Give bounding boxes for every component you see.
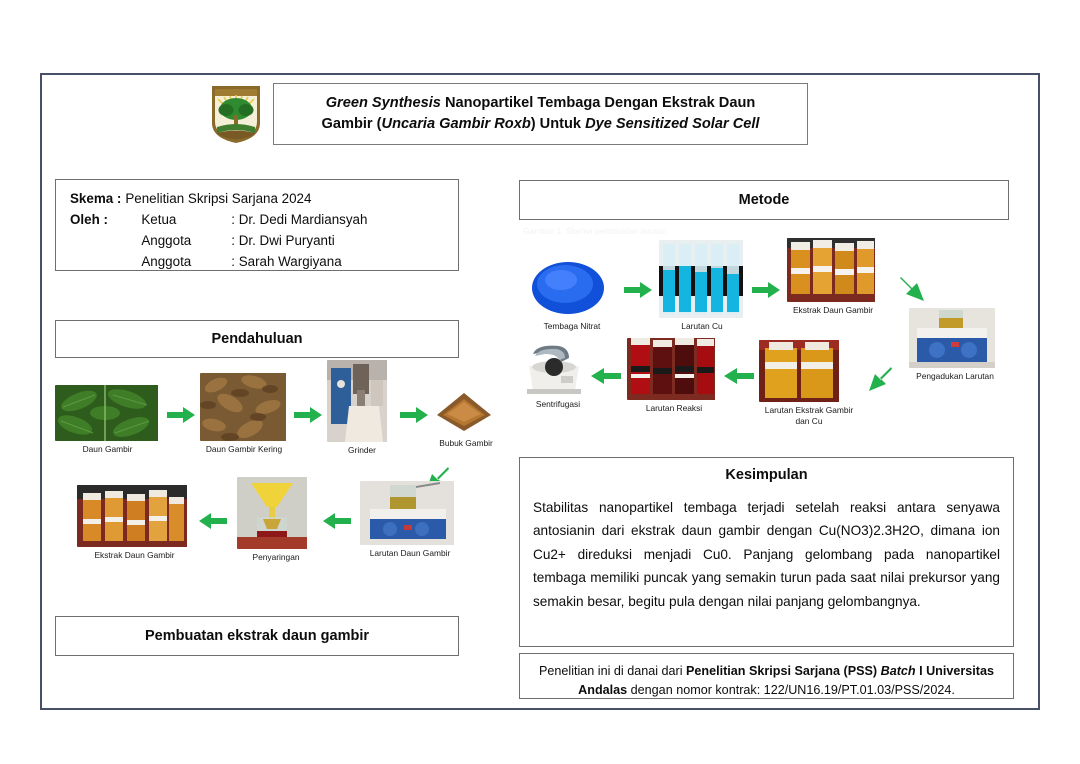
- metode-flow-diagram: Tembaga Nitrat: [519, 240, 1019, 455]
- flow-caption: Ekstrak Daun Gambir: [77, 550, 192, 561]
- flow-caption: Pengadukan Larutan: [909, 371, 1001, 382]
- table-row: Oleh : Ketua : Dr. Dedi Mardiansyah: [70, 210, 367, 231]
- page-title: Green Synthesis Nanopartikel Tembaga Den…: [322, 93, 760, 135]
- filtration-funnel-photo: [237, 477, 315, 549]
- arrow-left-icon: [591, 368, 621, 384]
- table-row: Anggota : Dr. Dwi Puryanti: [70, 231, 367, 252]
- member-role-2: Anggota: [125, 252, 231, 273]
- skema-box: Skema : Penelitian Skripsi Sarjana 2024 …: [55, 179, 459, 271]
- skema-value: Penelitian Skripsi Sarjana 2024: [125, 189, 367, 210]
- flow-caption: Larutan Daun Gambir: [360, 548, 460, 559]
- skema-label: Skema :: [70, 189, 125, 210]
- flow-caption: Sentrifugasi: [525, 399, 591, 410]
- two-amber-jars-photo: [759, 340, 859, 402]
- poster-title-box: Green Synthesis Nanopartikel Tembaga Den…: [273, 83, 808, 145]
- green-gambir-leaves-photo: [55, 385, 160, 441]
- flow-node-bubuk-gambir: Bubuk Gambir: [431, 385, 501, 449]
- beaker-on-hotplate-photo: [360, 481, 460, 545]
- flow-node-ekstrak-daun-gambir: Ekstrak Daun Gambir: [77, 485, 192, 561]
- flow-node-larutan-reaksi: Larutan Reaksi: [627, 338, 721, 414]
- table-row: Anggota : Sarah Wargiyana: [70, 252, 367, 273]
- member-role-0: Ketua: [125, 210, 231, 231]
- oleh-label: Oleh :: [70, 210, 125, 231]
- funding-post: dengan nomor kontrak: 122/UN16.19/PT.01.…: [627, 683, 955, 697]
- arrow-right-icon: [400, 407, 428, 423]
- arrow-left-icon: [199, 513, 227, 529]
- kesimpulan-text: Stabilitas nanopartikel tembaga terjadi …: [533, 496, 1000, 613]
- arrow-right-icon: [624, 282, 652, 298]
- member-name-0: : Dr. Dedi Mardiansyah: [231, 210, 367, 231]
- flow-node-larutan-ekstrak-gambir-cu: Larutan Ekstrak Gambir dan Cu: [759, 340, 859, 427]
- kesimpulan-box: Kesimpulan Stabilitas nanopartikel temba…: [519, 457, 1014, 647]
- funding-italic-bold: Batch: [881, 664, 916, 678]
- arrow-right-icon: [294, 407, 322, 423]
- arrow-down-left-icon: [864, 365, 894, 395]
- title-line2-b: ) Untuk: [531, 116, 585, 132]
- dark-red-reaction-bottles-photo: [627, 338, 721, 400]
- title-row: Green Synthesis Nanopartikel Tembaga Den…: [208, 83, 808, 149]
- flow-caption: Bubuk Gambir: [431, 438, 501, 449]
- dried-brown-leaves-photo: [200, 373, 288, 441]
- flow-caption: Daun Gambir Kering: [200, 444, 288, 455]
- section-header-pendahuluan: Pendahuluan: [55, 320, 459, 358]
- title-line1-rest: Nanopartikel Tembaga Dengan Ekstrak Daun: [441, 95, 755, 111]
- grinder-machine-photo: [327, 360, 397, 442]
- arrow-left-icon: [724, 368, 754, 384]
- funding-acknowledgment-box: Penelitian ini di danai dari Penelitian …: [519, 653, 1014, 699]
- section-header-pembuatan: Pembuatan ekstrak daun gambir: [55, 616, 459, 656]
- cyan-test-tubes-photo: [659, 240, 745, 318]
- flow-caption: Penyaringan: [237, 552, 315, 563]
- poster-frame: Green Synthesis Nanopartikel Tembaga Den…: [40, 73, 1040, 710]
- pendahuluan-flow-diagram: Daun Gambir: [55, 365, 459, 610]
- funding-pre: Penelitian ini di danai dari: [539, 664, 686, 678]
- flow-node-daun-gambir-kering: Daun Gambir Kering: [200, 373, 288, 455]
- flow-node-tembaga-nitrat: Tembaga Nitrat: [527, 258, 617, 332]
- title-line1-italic: Green Synthesis: [326, 95, 441, 111]
- table-row: Skema : Penelitian Skripsi Sarjana 2024: [70, 189, 367, 210]
- member-name-1: : Dr. Dwi Puryanti: [231, 231, 367, 252]
- flow-node-larutan-daun-gambir: Larutan Daun Gambir: [360, 481, 460, 559]
- section-header-metode: Metode: [519, 180, 1009, 220]
- funding-bold1: Penelitian Skripsi Sarjana (PSS): [686, 664, 881, 678]
- title-line2-a: Gambir (: [322, 116, 382, 132]
- arrow-right-icon: [752, 282, 780, 298]
- flow-caption: Larutan Cu: [659, 321, 745, 332]
- flow-node-sentrifugasi: Sentrifugasi: [525, 344, 591, 410]
- flow-caption: Tembaga Nitrat: [527, 321, 617, 332]
- flow-node-ekstrak-daun-gambir-metode: Ekstrak Daun Gambir: [787, 238, 879, 316]
- amber-extract-bottles-photo: [77, 485, 192, 547]
- member-name-2: : Sarah Wargiyana: [231, 252, 367, 273]
- flow-node-penyaringan: Penyaringan: [237, 477, 315, 563]
- section-header-kesimpulan: Kesimpulan: [533, 467, 1000, 483]
- flow-node-larutan-cu: Larutan Cu: [659, 240, 745, 332]
- flow-caption: Ekstrak Daun Gambir: [787, 305, 879, 316]
- flow-node-pengadukan-larutan: Pengadukan Larutan: [909, 308, 1001, 382]
- magnetic-stirrer-photo: [909, 308, 1001, 368]
- flow-caption: Larutan Reaksi: [627, 403, 721, 414]
- flow-node-daun-gambir: Daun Gambir: [55, 385, 160, 455]
- flow-node-grinder: Grinder: [327, 360, 397, 456]
- arrow-left-icon: [323, 513, 351, 529]
- member-role-1: Anggota: [125, 231, 231, 252]
- flow-caption: Grinder: [327, 445, 397, 456]
- amber-bottles-photo: [787, 238, 879, 302]
- arrow-down-right-icon: [897, 274, 929, 306]
- flow-caption: Daun Gambir: [55, 444, 160, 455]
- skema-table: Skema : Penelitian Skripsi Sarjana 2024 …: [70, 189, 367, 273]
- title-line2-italic1: Uncaria Gambir Roxb: [382, 116, 531, 132]
- centrifuge-machine-photo: [525, 344, 591, 396]
- blue-copper-nitrate-powder-photo: [527, 258, 617, 318]
- flow-caption: Larutan Ekstrak Gambir dan Cu: [759, 405, 859, 427]
- arrow-right-icon: [167, 407, 195, 423]
- brown-powder-dish-photo: [431, 385, 501, 435]
- metode-faint-note: Gambar 1. Skema pembuatan larutan: [523, 225, 823, 237]
- universitas-andalas-logo-icon: [208, 83, 264, 145]
- title-line2-italic2: Dye Sensitized Solar Cell: [585, 116, 759, 132]
